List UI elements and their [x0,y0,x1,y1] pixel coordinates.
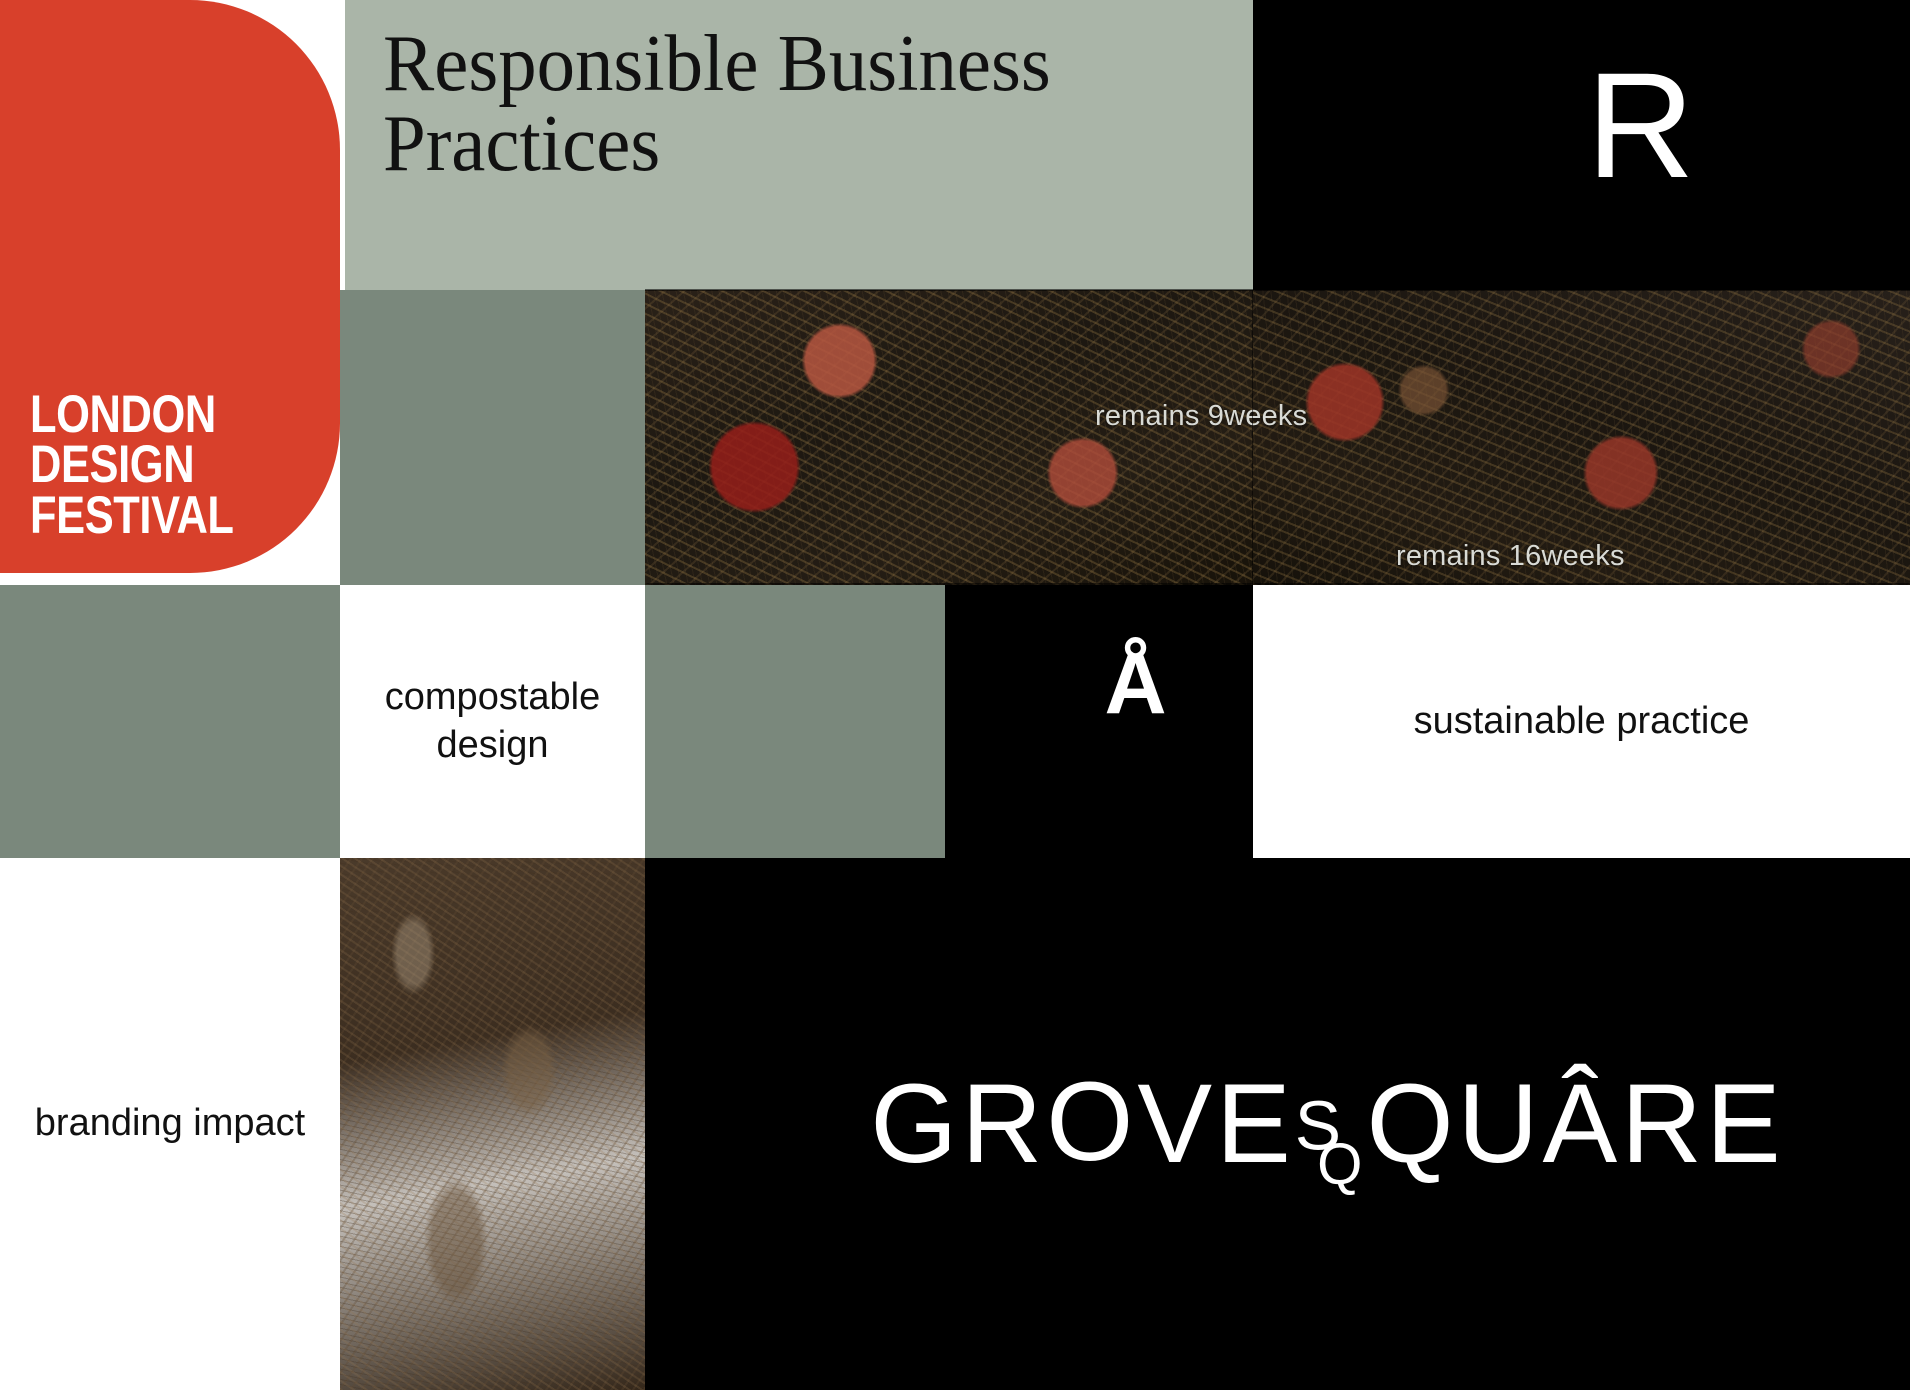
seam-row2-bottom [645,583,1910,585]
grovesquare-wordmark-text: GROVESQQUÂRE [645,1068,1910,1180]
ldf-line-3: FESTIVAL [30,486,234,545]
a-monogram-panel: Å [945,585,1253,858]
caption-sustainable-practice: sustainable practice [1253,585,1910,858]
london-design-festival-logo: LONDONDESIGNFESTIVAL [0,0,340,573]
sage-block-row3-col3 [645,585,945,858]
page-title-line-1: Responsible Business [383,20,1051,108]
a-monogram-glyph: Å [945,641,1253,727]
sage-block-row3-col1 [0,585,340,858]
caption-compostable-design: compostable design [340,585,645,858]
compost-photo-left [645,290,1253,585]
r-monogram-panel: R [1253,0,1910,290]
gs-part-5: Q [1317,1136,1366,1194]
photo-label-remains-9weeks: remains 9weeks [1095,400,1307,433]
page-title-line-2: Practices [383,100,660,188]
sage-block-row2-left [340,290,645,585]
gs-part-8: RE [1621,1061,1785,1186]
ldf-wordmark-text: LONDONDESIGNFESTIVAL [30,390,234,541]
gs-part-2: O [1046,1066,1137,1178]
r-monogram-glyph: R [1253,50,1910,200]
caption-branding-impact: branding impact [0,858,340,1390]
moodboard-canvas: Responsible Business Practices R remains… [0,0,1910,1390]
grovesquare-wordmark-panel: GROVESQQUÂRE [645,858,1910,1390]
seam-photo-vertical [1252,290,1253,585]
gs-part-6: QU [1366,1061,1542,1186]
gs-part-3: VE [1137,1061,1294,1186]
soil-photo [340,858,645,1390]
photo-label-remains-16weeks: remains 16weeks [1396,540,1625,573]
gs-part-1: GR [870,1061,1046,1186]
gs-part-7: Â [1542,1061,1621,1186]
seam-row2-top [645,289,1910,291]
